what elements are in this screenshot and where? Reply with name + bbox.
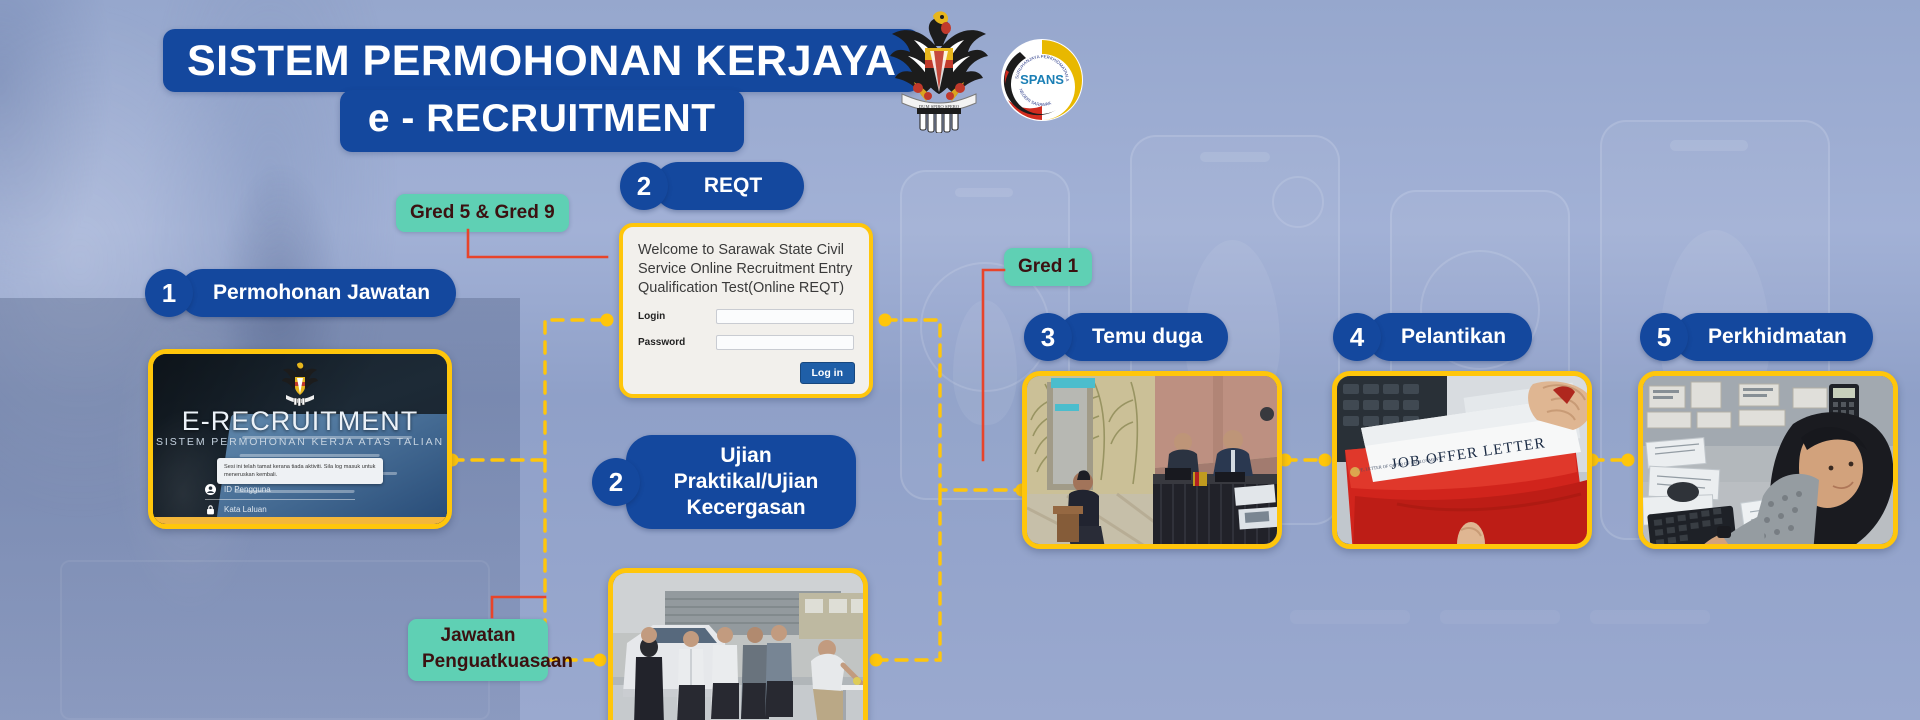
- ghost-phone-speaker: [1200, 152, 1270, 162]
- jawatan-line-2: Penguatkuasaan: [422, 649, 534, 675]
- practical-test-illustration: [613, 573, 868, 720]
- job-offer-letter-illustration: JOB OFFER LETTER WE, LETTER OF OFFER OF …: [1337, 376, 1592, 549]
- step-2-reqt[interactable]: 2 REQT: [620, 162, 804, 210]
- step-2b-label: Ujian Praktikal/Ujian Kecergasan: [626, 435, 856, 529]
- lock-icon: [205, 504, 216, 515]
- reqt-password-input[interactable]: [716, 335, 854, 350]
- spans-logo-text: SPANS: [1020, 72, 1064, 87]
- step-2-ujian-praktikal[interactable]: 2 Ujian Praktikal/Ujian Kecergasan: [592, 435, 856, 529]
- reqt-login-row: Login: [638, 309, 854, 324]
- ghost-bar: [1590, 610, 1710, 624]
- title-line-2: e - RECRUITMENT: [340, 90, 744, 152]
- erecruitment-title: E-RECRUITMENT: [153, 406, 447, 437]
- erecruitment-screen: E-RECRUITMENT SISTEM PERMOHONAN KERJA AT…: [153, 354, 447, 524]
- erecruitment-crest-icon: [280, 362, 320, 406]
- spans-logo: SURUHANJAYA PERKHIDMATAN AWAM NEGERI SAR…: [1000, 38, 1084, 122]
- ghost-phone-speaker: [955, 188, 1013, 197]
- step-5-number: 5: [1640, 313, 1688, 361]
- step-3-label: Temu duga: [1058, 313, 1228, 361]
- interview-illustration: [1027, 376, 1282, 549]
- erecruitment-subtitle: SISTEM PERMOHONAN KERJA ATAS TALIAN: [153, 436, 447, 448]
- step-5-label: Perkhidmatan: [1674, 313, 1873, 361]
- ghost-badge-icon: [1272, 176, 1324, 228]
- title-line-1: SISTEM PERMOHONAN KERJAYA: [163, 29, 920, 92]
- step-3-number: 3: [1024, 313, 1072, 361]
- step-3-temu-duga[interactable]: 3 Temu duga: [1024, 313, 1228, 361]
- photo-erecruitment-portal[interactable]: E-RECRUITMENT SISTEM PERMOHONAN KERJA AT…: [148, 349, 452, 529]
- grade-callout-gred-5-9: Gred 5 & Gred 9: [396, 194, 569, 232]
- reqt-login-label: Login: [638, 311, 716, 322]
- photo-job-offer-letter[interactable]: JOB OFFER LETTER WE, LETTER OF OFFER OF …: [1332, 371, 1592, 549]
- reqt-login-button[interactable]: Log in: [800, 362, 856, 384]
- erecruitment-userid-placeholder: ID Pengguna: [224, 485, 271, 494]
- erecruitment-session-toast: Sesi ini telah tamat kerana tiada aktivi…: [217, 458, 383, 484]
- ghost-bar: [1290, 610, 1410, 624]
- service-illustration: ✓: [1643, 376, 1898, 549]
- step-1-number: 1: [145, 269, 193, 317]
- reqt-password-label: Password: [638, 337, 716, 348]
- sarawak-state-crest: DUM SPIRO SPERO: [884, 8, 994, 133]
- reqt-welcome-text: Welcome to Sarawak State Civil Service O…: [638, 241, 854, 298]
- erecruitment-password-placeholder: Kata Laluan: [224, 505, 267, 514]
- reqt-password-row: Password: [638, 335, 854, 350]
- user-icon: [205, 484, 216, 495]
- erecruitment-userid-field[interactable]: ID Pengguna: [205, 484, 355, 500]
- step-5-perkhidmatan[interactable]: 5 Perkhidmatan: [1640, 313, 1873, 361]
- jawatan-line-1: Jawatan: [422, 623, 534, 649]
- page-title: SISTEM PERMOHONAN KERJAYA e - RECRUITMEN…: [163, 29, 920, 152]
- photo-service[interactable]: ✓: [1638, 371, 1898, 549]
- diagram-canvas: SISTEM PERMOHONAN KERJAYA e - RECRUITMEN…: [0, 0, 1920, 720]
- ghost-bar: [1440, 610, 1560, 624]
- step-4-label: Pelantikan: [1367, 313, 1532, 361]
- ghost-phone-speaker: [1670, 140, 1748, 151]
- grade-callout-gred-1: Gred 1: [1004, 248, 1092, 286]
- step-2-label: REQT: [654, 162, 804, 210]
- step-4-pelantikan[interactable]: 4 Pelantikan: [1333, 313, 1532, 361]
- reqt-login-input[interactable]: [716, 309, 854, 324]
- step-1-permohonan-jawatan[interactable]: 1 Permohonan Jawatan: [145, 269, 456, 317]
- step-2-number: 2: [620, 162, 668, 210]
- grade-callout-jawatan-penguatkuasaan: Jawatan Penguatkuasaan: [408, 619, 548, 681]
- photo-practical-test[interactable]: [608, 568, 868, 720]
- step-2b-number: 2: [592, 458, 640, 506]
- photo-interview[interactable]: [1022, 371, 1282, 549]
- step-1-label: Permohonan Jawatan: [179, 269, 456, 317]
- step-4-number: 4: [1333, 313, 1381, 361]
- erecruitment-bottom-strip: [153, 517, 447, 524]
- reqt-login-panel[interactable]: Welcome to Sarawak State Civil Service O…: [619, 223, 873, 398]
